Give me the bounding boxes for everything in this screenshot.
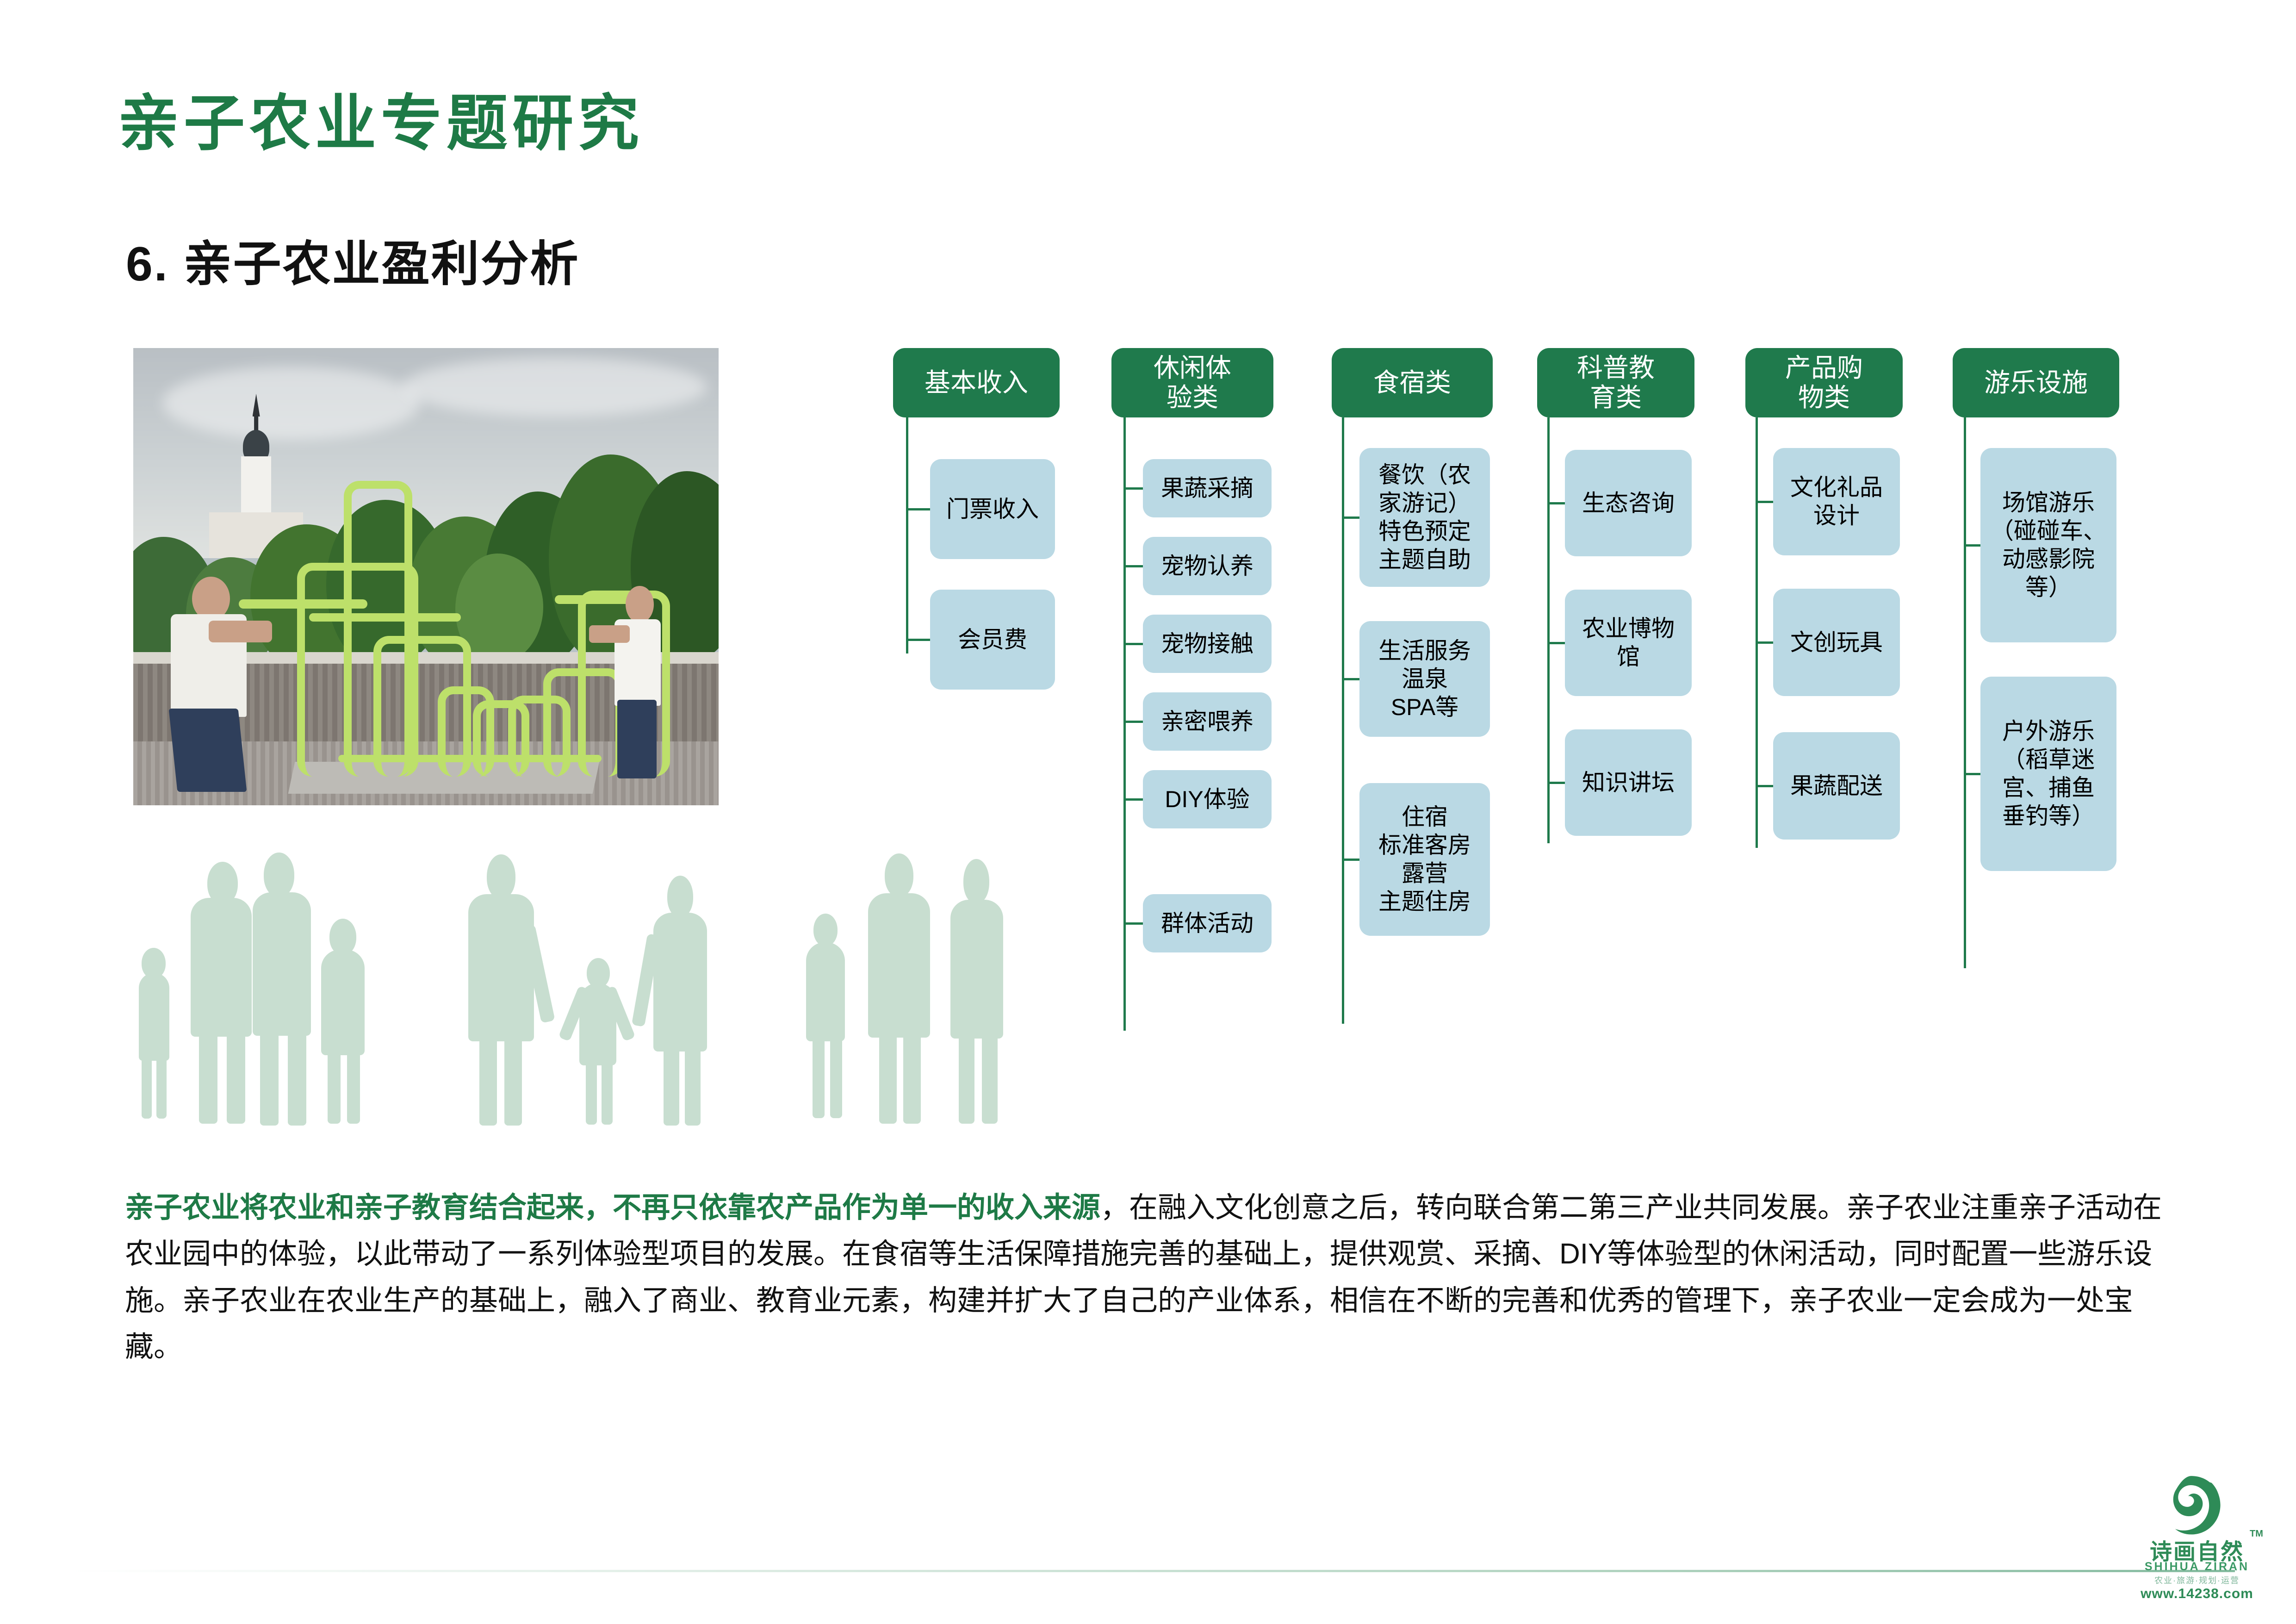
column-header[interactable]: 产品购 物类 <box>1745 348 1903 417</box>
diagram-leaf[interactable]: 生态咨询 <box>1565 450 1692 556</box>
footer-divider <box>69 1570 2235 1572</box>
green-tube-bar <box>338 755 602 762</box>
column-header[interactable]: 基本收入 <box>893 348 1060 417</box>
logo-pinyin: SHIHUA ZIRAN <box>2128 1560 2266 1574</box>
logo-subline: 农业·旅游·规划·运营 <box>2128 1574 2266 1586</box>
diagram-leaf[interactable]: 住宿 标准客房 露营 主题住房 <box>1359 783 1490 936</box>
column-header[interactable]: 食宿类 <box>1332 348 1493 417</box>
diagram-leaf[interactable]: 生活服务 温泉 SPA等 <box>1359 621 1490 737</box>
diagram-leaf[interactable]: 知识讲坛 <box>1565 729 1692 836</box>
trademark-symbol: TM <box>2250 1529 2263 1539</box>
diagram-leaf[interactable]: 果蔬配送 <box>1773 732 1900 840</box>
diagram-leaf[interactable]: 果蔬采摘 <box>1143 459 1272 517</box>
column-header[interactable]: 游乐设施 <box>1953 348 2119 417</box>
child-figure <box>608 586 678 783</box>
leaf-swirl-icon <box>2157 1474 2226 1537</box>
column-header[interactable]: 科普教 育类 <box>1537 348 1694 417</box>
paragraph-highlight: 亲子农业将农业和亲子教育结合起来，不再只依靠农产品作为单一的收入来源 <box>125 1192 1100 1224</box>
family-silhouettes <box>139 842 1018 1125</box>
cloud-shape <box>403 357 707 417</box>
company-logo: 诗画自然 TM SHIHUA ZIRAN 农业·旅游·规划·运营 www.142… <box>2124 1474 2277 1613</box>
diagram-leaf[interactable]: 宠物认养 <box>1143 537 1272 595</box>
diagram-leaf[interactable]: 宠物接触 <box>1143 615 1272 673</box>
diagram-column-product-shopping: 产品购 物类 文化礼品 设计 文创玩具 果蔬配送 <box>1745 348 1903 1079</box>
adult-figure <box>162 577 268 796</box>
logo-url[interactable]: www.14238.com <box>2128 1586 2266 1602</box>
playground-photo <box>133 348 719 805</box>
page-title: 亲子农业专题研究 <box>118 74 644 162</box>
diagram-leaf[interactable]: 门票收入 <box>930 459 1055 559</box>
diagram-leaf[interactable]: 户外游乐 （稻草迷 宫、捕鱼 垂钓等） <box>1980 677 2116 871</box>
revenue-category-diagram: 基本收入 门票收入 会员费 休闲体 验类 果蔬采摘 <box>893 348 2244 1135</box>
diagram-column-amusement-facilities: 游乐设施 场馆游乐 （碰碰车、 动感影院 等） 户外游乐 （稻草迷 宫、捕鱼 垂… <box>1953 348 2119 1079</box>
column-header[interactable]: 休闲体 验类 <box>1111 348 1273 417</box>
diagram-leaf[interactable]: 文化礼品 设计 <box>1773 448 1900 555</box>
diagram-leaf[interactable]: 场馆游乐 （碰碰车、 动感影院 等） <box>1980 448 2116 642</box>
slide-root: 亲子农业专题研究 6. 亲子农业盈利分析 <box>0 0 2296 1624</box>
section-heading: 6. 亲子农业盈利分析 <box>126 224 580 294</box>
diagram-leaf[interactable]: 餐饮（农 家游记） 特色预定 主题自助 <box>1359 448 1490 587</box>
diagram-leaf[interactable]: 会员费 <box>930 590 1055 690</box>
diagram-leaf[interactable]: DIY体验 <box>1143 770 1272 828</box>
green-tube-bar <box>309 613 461 622</box>
diagram-column-basic-income: 基本收入 门票收入 会员费 <box>893 348 1060 1079</box>
diagram-leaf[interactable]: 亲密喂养 <box>1143 692 1272 751</box>
diagram-column-science-education: 科普教 育类 生态咨询 农业博物 馆 知识讲坛 <box>1537 348 1694 1079</box>
diagram-column-leisure-experience: 休闲体 验类 果蔬采摘 宠物认养 宠物接触 亲密喂养 <box>1111 348 1273 1079</box>
diagram-leaf[interactable]: 群体活动 <box>1143 894 1272 952</box>
summary-paragraph: 亲子农业将农业和亲子教育结合起来，不再只依靠农产品作为单一的收入来源，在融入文化… <box>125 1185 2175 1371</box>
diagram-leaf[interactable]: 农业博物 馆 <box>1565 590 1692 696</box>
diagram-leaf[interactable]: 文创玩具 <box>1773 589 1900 696</box>
diagram-column-food-lodging: 食宿类 餐饮（农 家游记） 特色预定 主题自助 生活服务 温泉 SPA等 住宿 … <box>1332 348 1493 1079</box>
